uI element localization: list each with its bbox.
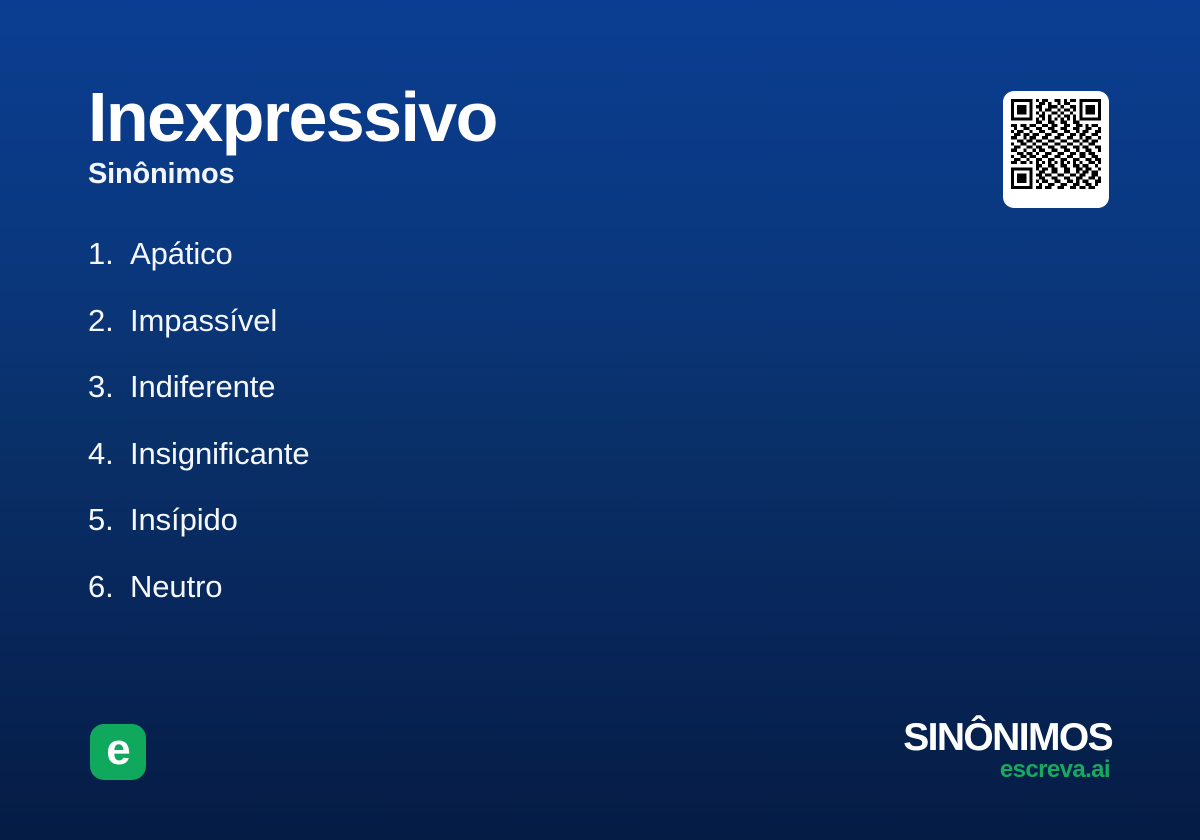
escreva-logo-letter: e [106,728,129,772]
list-item-word: Indiferente [130,367,275,407]
list-item-index: 1. [88,234,130,274]
page-subtitle: Sinônimos [88,159,848,191]
synonyms-card: Inexpressivo Sinônimos 1. Apático 2. Imp… [0,0,1200,840]
list-item: 1. Apático [88,234,888,301]
list-item: 2. Impassível [88,301,888,368]
sinonimos-brand-logo: SINÔNIMOS escreva.ai [903,718,1112,783]
brand-logo-title: SINÔNIMOS [903,718,1112,758]
list-item-index: 5. [88,500,130,540]
list-item-word: Insignificante [130,434,310,474]
page-title: Inexpressivo [88,82,848,153]
list-item: 3. Indiferente [88,367,888,434]
list-item: 5. Insípido [88,500,888,567]
list-item-index: 6. [88,567,130,607]
list-item: 4. Insignificante [88,434,888,501]
list-item: 6. Neutro [88,567,888,634]
list-item-index: 2. [88,301,130,341]
list-item-index: 4. [88,434,130,474]
list-item-word: Impassível [130,301,277,341]
escreva-logo-mark: e [90,724,146,780]
list-item-word: Neutro [130,567,222,607]
qr-code-card[interactable] [1003,91,1109,208]
synonyms-list: 1. Apático 2. Impassível 3. Indiferente … [88,234,888,633]
list-item-index: 3. [88,367,130,407]
brand-logo-domain: escreva.ai [903,757,1110,783]
header: Inexpressivo Sinônimos [88,82,848,191]
qr-code-icon[interactable] [1011,99,1101,189]
list-item-word: Insípido [130,500,238,540]
list-item-word: Apático [130,234,233,274]
